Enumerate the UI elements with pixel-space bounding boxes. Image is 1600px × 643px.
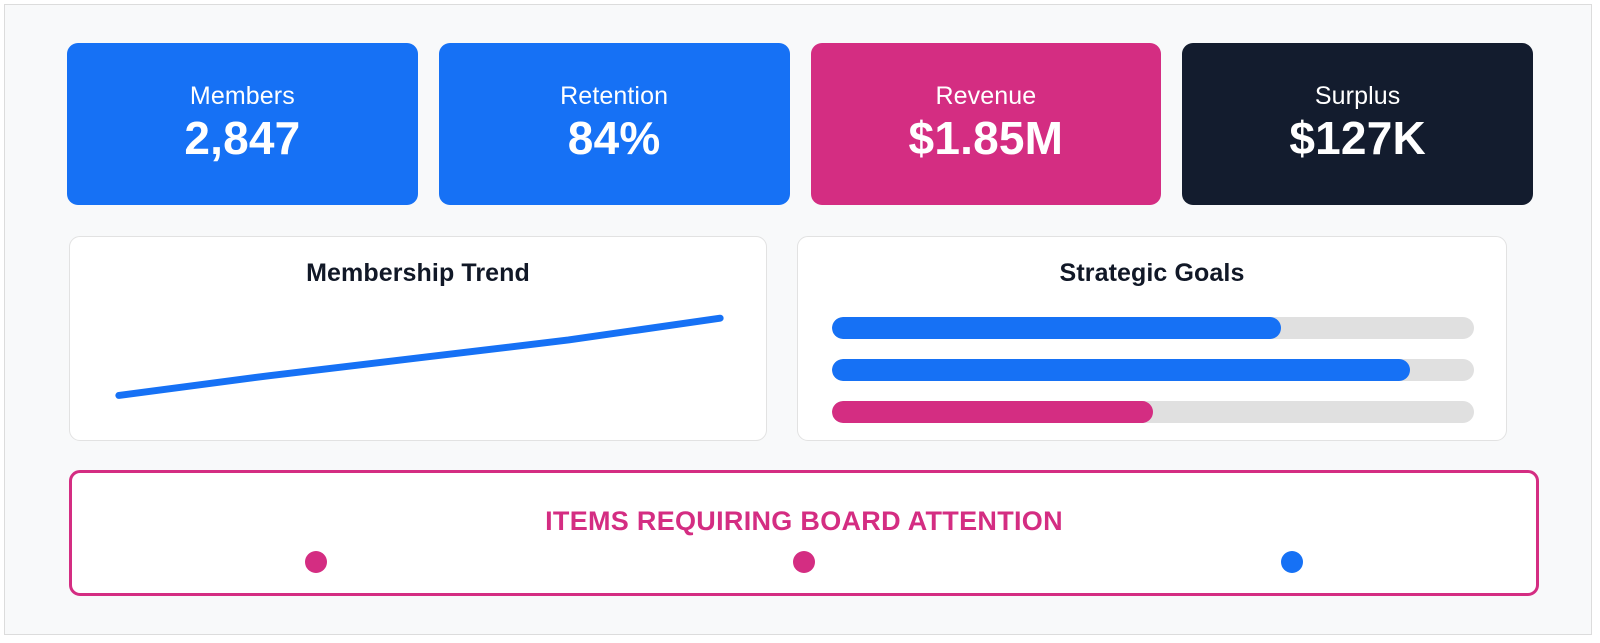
status-dot-cell	[1048, 551, 1536, 573]
kpi-label: Revenue	[935, 83, 1036, 111]
status-dot-icon[interactable]	[793, 551, 815, 573]
banner-status-dots	[72, 551, 1536, 573]
kpi-card-row: Members 2,847 Retention 84% Revenue $1.8…	[67, 43, 1533, 205]
goal-progress-bar	[832, 401, 1474, 423]
goal-progress-bar	[832, 359, 1474, 381]
dashboard-frame: Members 2,847 Retention 84% Revenue $1.8…	[4, 4, 1592, 635]
kpi-value: $127K	[1289, 112, 1426, 165]
kpi-card-surplus[interactable]: Surplus $127K	[1182, 43, 1533, 205]
goal-progress-fill	[832, 359, 1410, 381]
board-attention-banner: ITEMS REQUIRING BOARD ATTENTION	[69, 470, 1539, 596]
goal-progress-bar	[832, 317, 1474, 339]
membership-trend-panel: Membership Trend	[69, 236, 767, 441]
kpi-label: Surplus	[1315, 83, 1400, 111]
kpi-label: Members	[190, 83, 295, 111]
panel-row: Membership Trend Strategic Goals	[69, 236, 1507, 441]
status-dot-cell	[560, 551, 1048, 573]
kpi-value: 2,847	[184, 112, 300, 165]
status-dot-icon[interactable]	[1281, 551, 1303, 573]
kpi-label: Retention	[560, 83, 668, 111]
kpi-card-retention[interactable]: Retention 84%	[439, 43, 790, 205]
panel-title: Strategic Goals	[798, 259, 1506, 288]
kpi-value: $1.85M	[909, 112, 1064, 165]
trend-line	[119, 318, 720, 395]
goal-progress-fill	[832, 401, 1153, 423]
kpi-card-revenue[interactable]: Revenue $1.85M	[811, 43, 1162, 205]
membership-trend-line-chart	[70, 237, 766, 440]
goal-progress-fill	[832, 317, 1281, 339]
status-dot-icon[interactable]	[305, 551, 327, 573]
kpi-value: 84%	[568, 112, 661, 165]
banner-title: ITEMS REQUIRING BOARD ATTENTION	[72, 506, 1536, 537]
strategic-goals-panel: Strategic Goals	[797, 236, 1507, 441]
kpi-card-members[interactable]: Members 2,847	[67, 43, 418, 205]
goals-progress-list	[832, 317, 1474, 423]
status-dot-cell	[72, 551, 560, 573]
